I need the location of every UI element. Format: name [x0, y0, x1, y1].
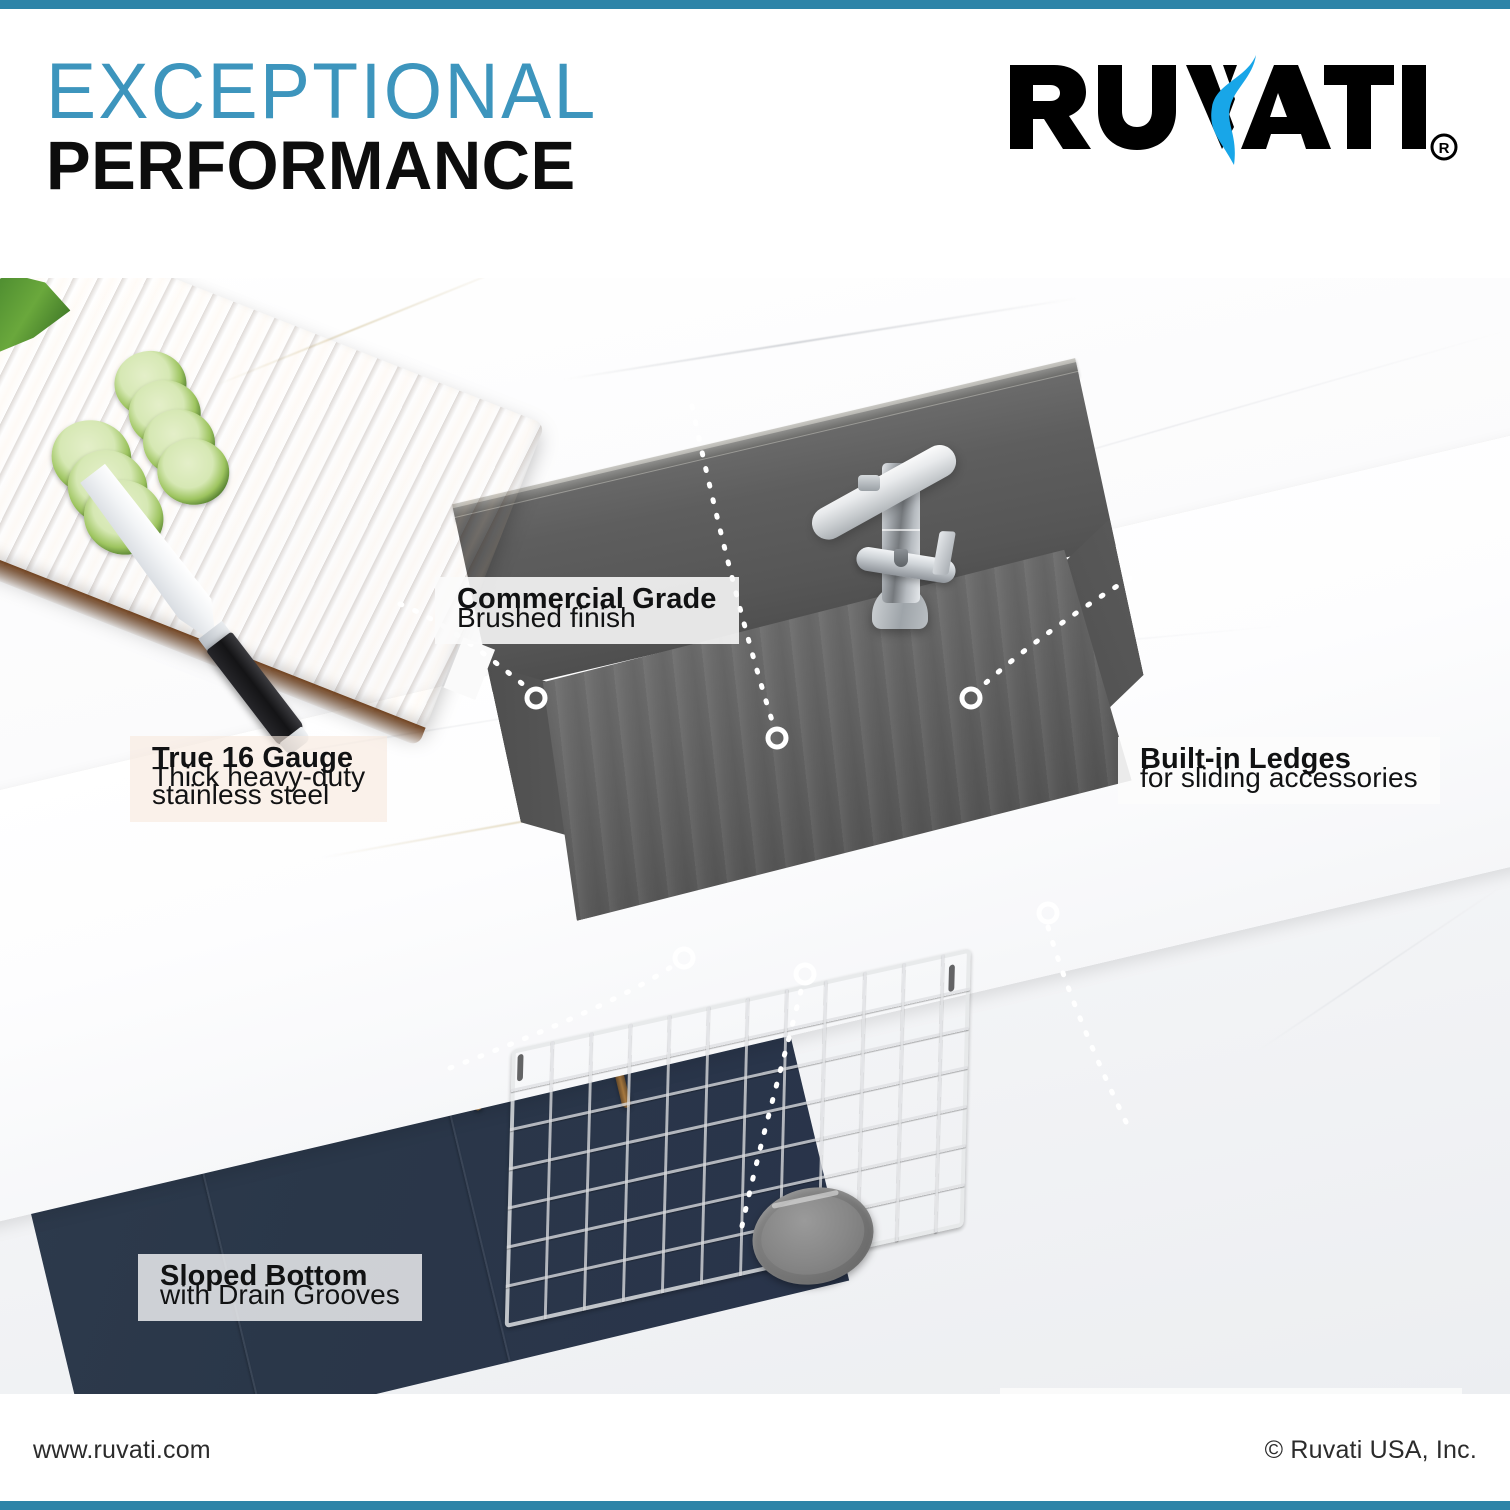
faucet-nozzle: [894, 549, 908, 567]
callout-built-in-ledges: Built-in Ledges for sliding accessories: [1118, 737, 1440, 804]
grid-foot: [948, 964, 955, 992]
footer-copyright: © Ruvati USA, Inc.: [1265, 1436, 1477, 1465]
product-photo: Commercial Grade Brushed finish True 16 …: [0, 278, 1510, 1412]
grid-foot: [517, 1054, 524, 1082]
header: EXCEPTIONAL PERFORMANCE: [0, 9, 1510, 271]
title-line-performance: PERFORMANCE: [46, 131, 609, 201]
callout-true-16-gauge: True 16 Gauge Thick heavy-duty stainless…: [130, 736, 387, 822]
infographic-page: EXCEPTIONAL PERFORMANCE: [0, 0, 1510, 1510]
ruvati-logo: R: [1006, 51, 1466, 169]
registered-trademark: R: [1432, 135, 1456, 159]
footer: www.ruvati.com © Ruvati USA, Inc.: [0, 1394, 1510, 1492]
kitchen-faucet: [810, 353, 1040, 673]
footer-website[interactable]: www.ruvati.com: [33, 1436, 211, 1465]
callout-sloped-bottom: Sloped Bottom with Drain Grooves: [138, 1254, 422, 1321]
callout-subtext: with Drain Grooves: [160, 1286, 400, 1305]
page-title: EXCEPTIONAL PERFORMANCE: [46, 53, 627, 201]
title-line-exceptional: EXCEPTIONAL: [46, 53, 598, 129]
svg-text:R: R: [1439, 140, 1450, 157]
callout-subtext: for sliding accessories: [1140, 769, 1418, 788]
callout-commercial-grade: Commercial Grade Brushed finish: [435, 577, 739, 644]
